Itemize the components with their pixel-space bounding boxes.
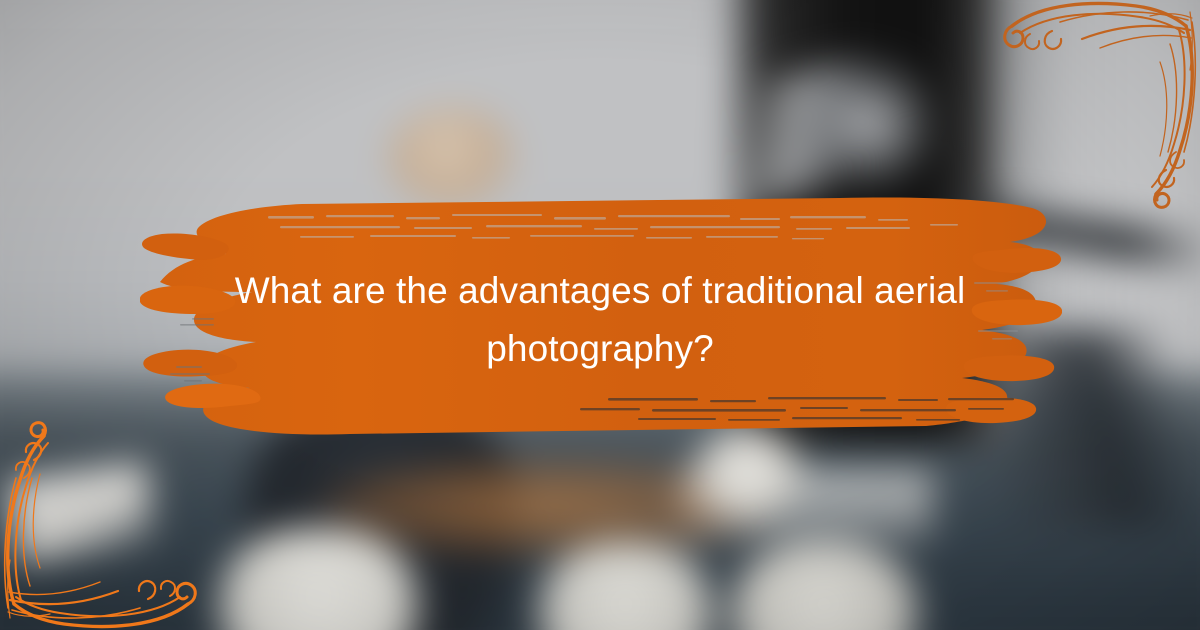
page-title: What are the advantages of traditional a… (170, 262, 1030, 377)
headline-container: What are the advantages of traditional a… (170, 262, 1030, 377)
featured-image-canvas: What are the advantages of traditional a… (0, 0, 1200, 630)
